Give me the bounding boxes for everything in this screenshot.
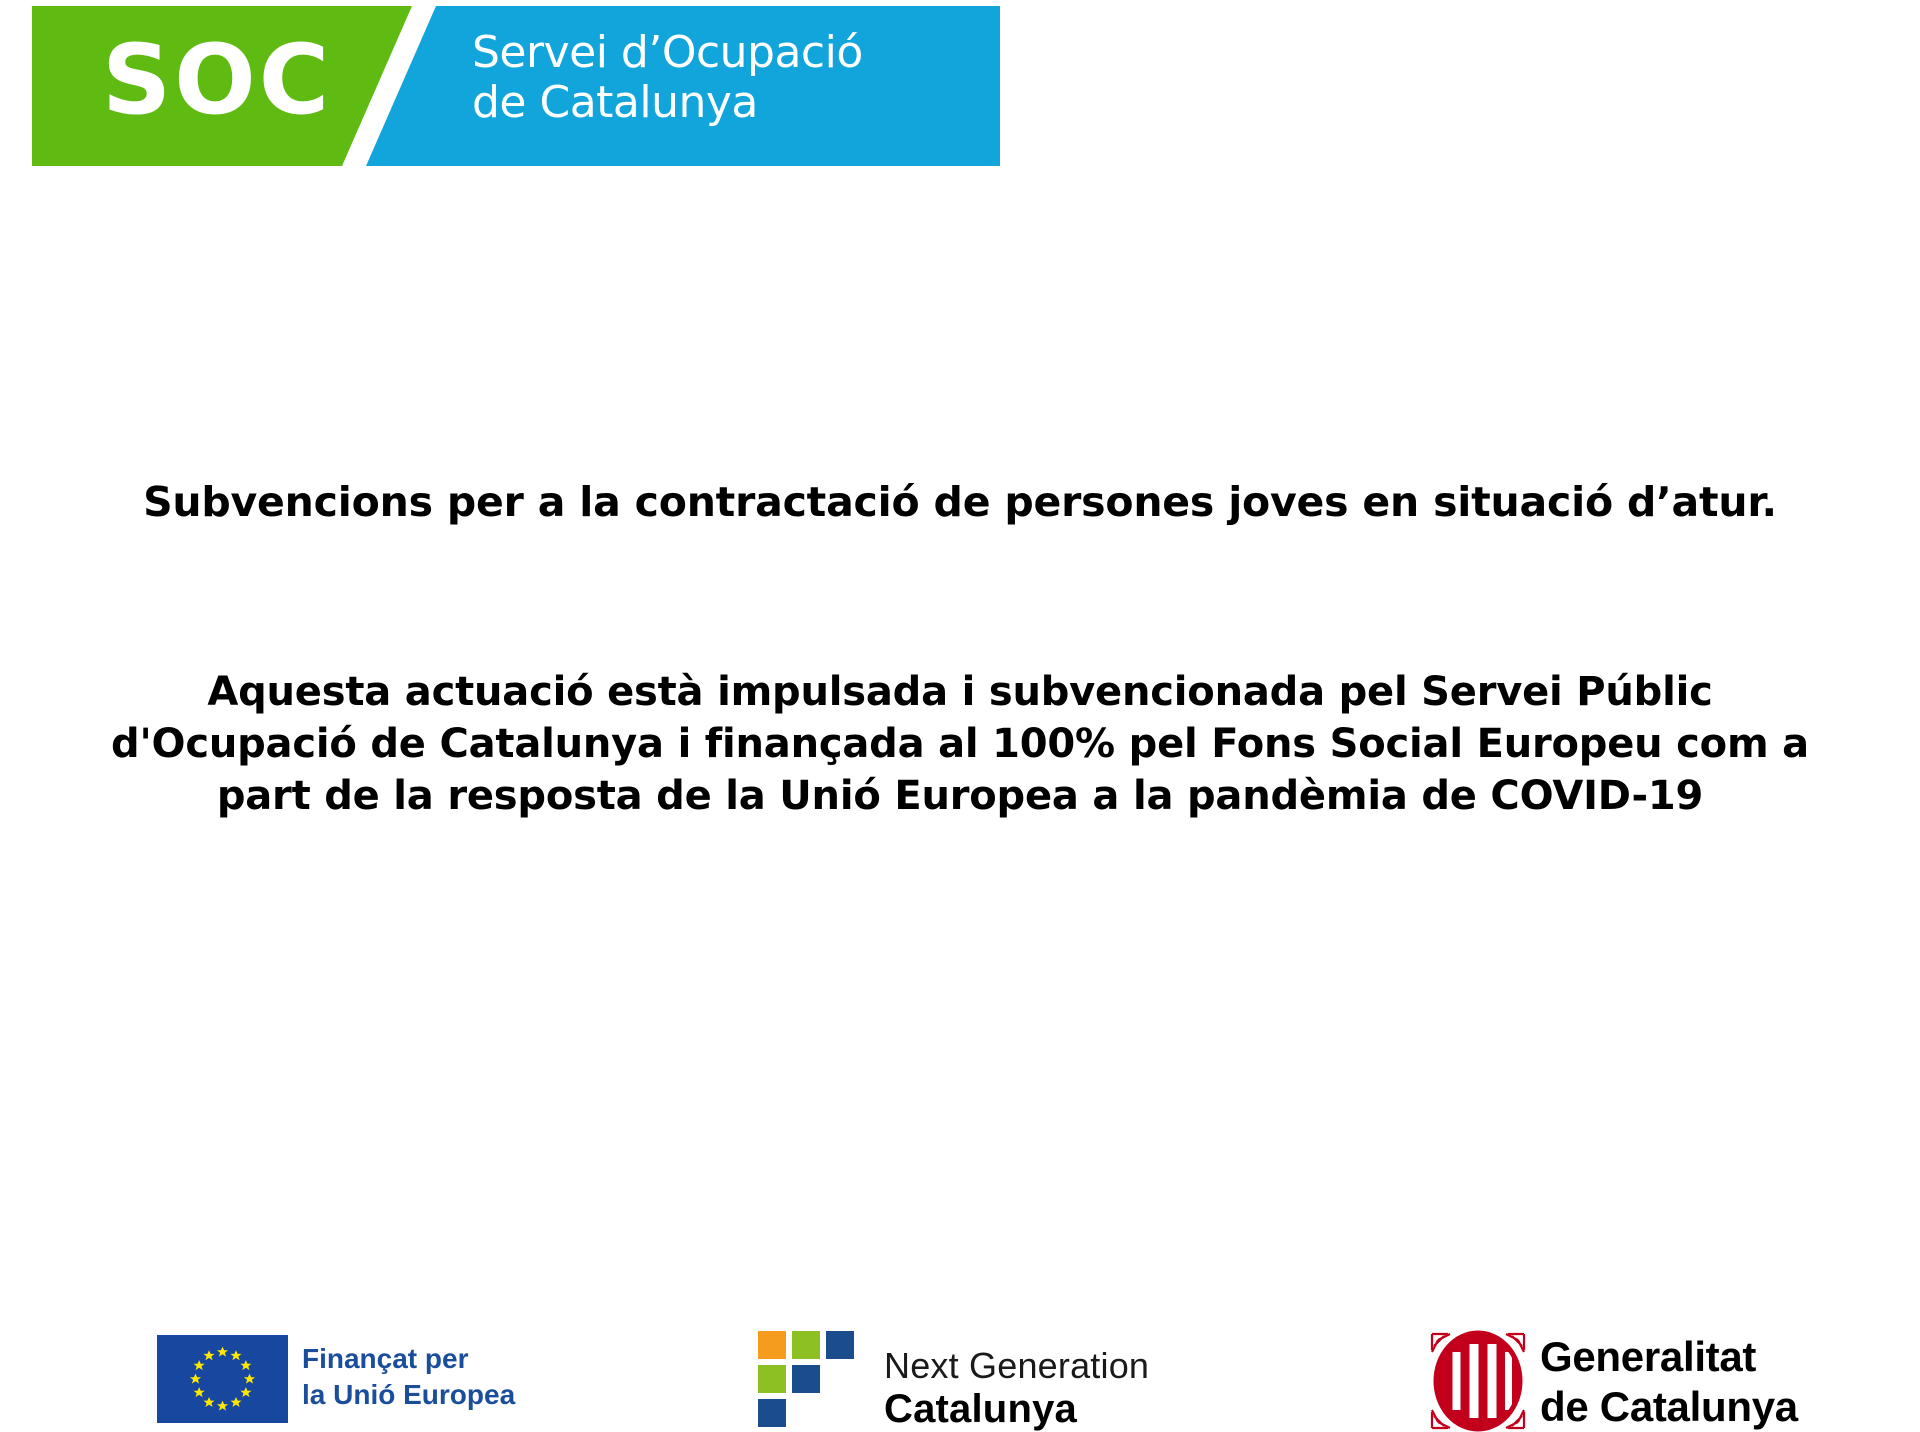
- ngc-square: [826, 1331, 854, 1359]
- next-generation-squares-icon: [758, 1331, 854, 1427]
- ngc-square: [758, 1331, 786, 1359]
- soc-logo: SOC Servei d’Ocupació de Catalunya: [32, 6, 1000, 166]
- funding-statement-line-1: Aquesta actuació està impulsada i subven…: [40, 666, 1880, 718]
- funding-statement-line-2: d'Ocupació de Catalunya i finançada al 1…: [40, 718, 1880, 770]
- soc-tagline-line-1: Servei d’Ocupació: [472, 28, 992, 78]
- soc-tagline-line-2: de Catalunya: [472, 78, 992, 128]
- next-generation-text-line-2: Catalunya: [884, 1387, 1149, 1431]
- next-generation-text: Next Generation Catalunya: [884, 1345, 1149, 1431]
- ngc-square: [792, 1365, 820, 1393]
- generalitat-text-line-2: de Catalunya: [1540, 1382, 1798, 1432]
- funding-statement-line-3: part de la resposta de la Unió Europea a…: [40, 770, 1880, 822]
- page-title: Subvencions per a la contractació de per…: [0, 478, 1920, 526]
- catalan-shield-shapes: [1428, 1330, 1528, 1432]
- ngc-square: [758, 1365, 786, 1393]
- eu-stars: [157, 1335, 288, 1423]
- ngc-square: [792, 1331, 820, 1359]
- generalitat-text-line-1: Generalitat: [1540, 1332, 1798, 1382]
- eu-flag-icon: [157, 1335, 288, 1423]
- generalitat-text: Generalitat de Catalunya: [1540, 1332, 1798, 1432]
- eu-funding-text-line-1: Finançat per: [302, 1341, 515, 1377]
- funding-statement: Aquesta actuació està impulsada i subven…: [40, 666, 1880, 822]
- ngc-square: [758, 1399, 786, 1427]
- catalan-shield-icon: [1428, 1330, 1528, 1432]
- slide-canvas: SOC Servei d’Ocupació de Catalunya Subve…: [0, 0, 1920, 1432]
- next-generation-text-line-1: Next Generation: [884, 1345, 1149, 1387]
- soc-tagline: Servei d’Ocupació de Catalunya: [472, 28, 992, 128]
- eu-funding-text: Finançat per la Unió Europea: [302, 1341, 515, 1413]
- soc-acronym: SOC: [102, 32, 332, 128]
- eu-funding-text-line-2: la Unió Europea: [302, 1377, 515, 1413]
